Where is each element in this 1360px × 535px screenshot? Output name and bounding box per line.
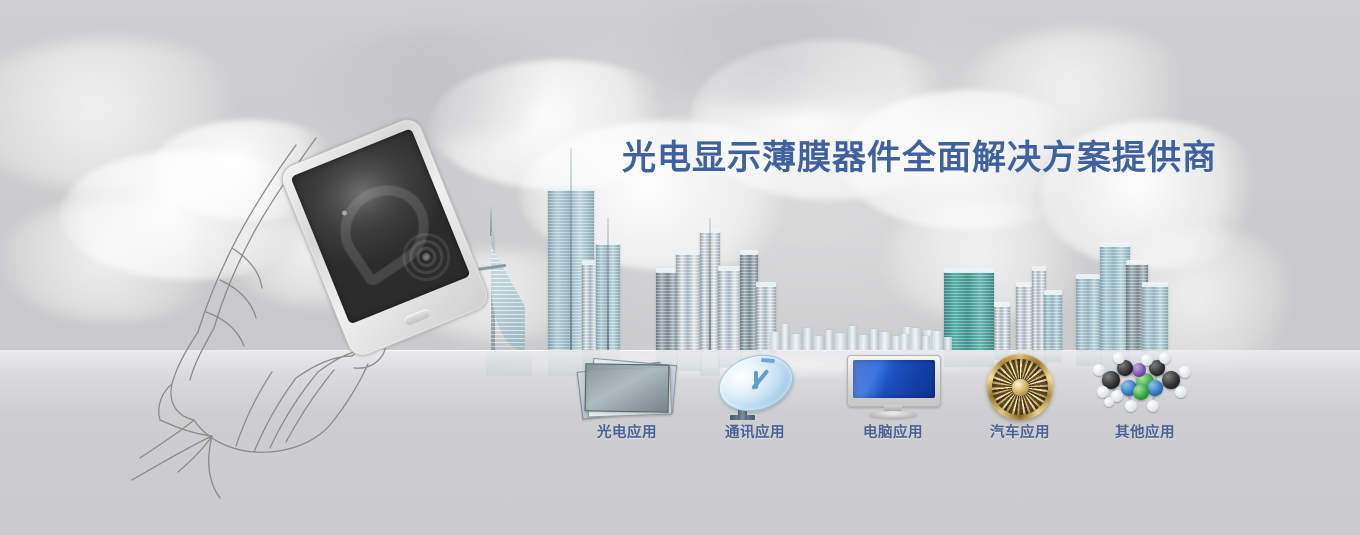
building-6 — [700, 232, 720, 350]
molecule-atom-16 — [1125, 400, 1137, 412]
building-5 — [676, 254, 702, 350]
app-item-computer[interactable]: 电脑应用 — [828, 352, 958, 441]
molecule-atom-8 — [1133, 384, 1149, 400]
building-18 — [1142, 286, 1168, 350]
application-icon-row: 光电应用 通讯应用 电脑应用 汽车应 — [0, 352, 1360, 462]
molecule-atom-15 — [1093, 364, 1105, 376]
molecule-atom-17 — [1147, 400, 1159, 412]
building-15 — [1076, 278, 1102, 350]
app-label-optoelectronic: 光电应用 — [562, 426, 692, 441]
building-4 — [656, 272, 678, 350]
molecule-atom-12 — [1159, 352, 1171, 364]
computer-monitor-icon — [828, 352, 958, 420]
app-label-automotive: 汽车应用 — [955, 426, 1085, 441]
app-item-other[interactable]: 其他应用 — [1080, 352, 1210, 441]
molecule-atom-19 — [1104, 397, 1114, 407]
optical-film-stack-icon — [562, 352, 692, 420]
satellite-dish-icon — [690, 352, 820, 420]
phone-home-button — [403, 308, 430, 326]
molecule-atom-14 — [1179, 366, 1191, 378]
molecule-atom-18 — [1141, 354, 1153, 366]
app-item-automotive[interactable]: 汽车应用 — [955, 352, 1085, 441]
page-title: 光电显示薄膜器件全面解决方案提供商 — [622, 140, 1217, 176]
building-11 — [994, 306, 1010, 350]
app-label-other: 其他应用 — [1080, 426, 1210, 441]
molecule-model-icon — [1080, 352, 1210, 420]
app-item-optoelectronic[interactable]: 光电应用 — [562, 352, 692, 441]
app-label-communication: 通讯应用 — [690, 426, 820, 441]
app-label-computer: 电脑应用 — [828, 426, 958, 441]
building-0 — [486, 232, 532, 350]
building-7 — [718, 270, 742, 350]
molecule-atom-11 — [1113, 352, 1125, 364]
molecule-atom-4 — [1147, 380, 1163, 396]
alloy-wheel-icon — [955, 352, 1085, 420]
building-14 — [1044, 294, 1062, 350]
building-3 — [596, 244, 620, 350]
promo-banner: 光电显示薄膜器件全面解决方案提供商 光电应用 通讯应用 — [0, 0, 1360, 535]
app-item-communication[interactable]: 通讯应用 — [690, 352, 820, 441]
molecule-atom-13 — [1175, 386, 1187, 398]
